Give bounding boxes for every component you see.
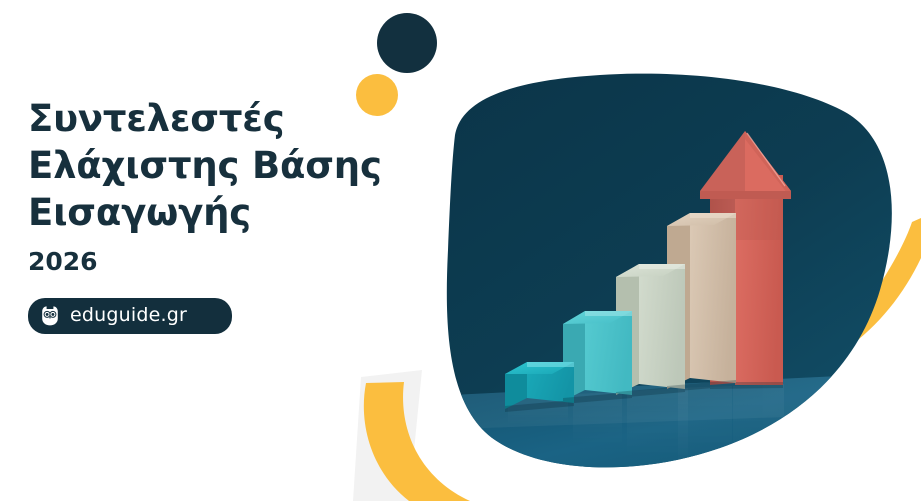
headline-block: Συντελεστές Ελάχιστης Βάσης Εισαγωγής 20…: [28, 96, 358, 334]
headline-line-3: Εισαγωγής: [28, 190, 358, 237]
yellow-circle: [356, 74, 398, 116]
headline-line-2: Ελάχιστης Βάσης: [28, 143, 358, 190]
page-title: Συντελεστές Ελάχιστης Βάσης Εισαγωγής: [28, 96, 358, 237]
navy-circle: [377, 13, 437, 73]
headline-line-1: Συντελεστές: [28, 96, 358, 143]
promo-banner: Συντελεστές Ελάχιστης Βάσης Εισαγωγής 20…: [0, 0, 921, 501]
year-label: 2026: [28, 247, 358, 276]
brand-name: eduguide.gr: [70, 306, 187, 325]
blob-scene: [430, 74, 921, 500]
owl-icon: [39, 305, 61, 327]
brand-badge[interactable]: eduguide.gr: [28, 298, 232, 334]
